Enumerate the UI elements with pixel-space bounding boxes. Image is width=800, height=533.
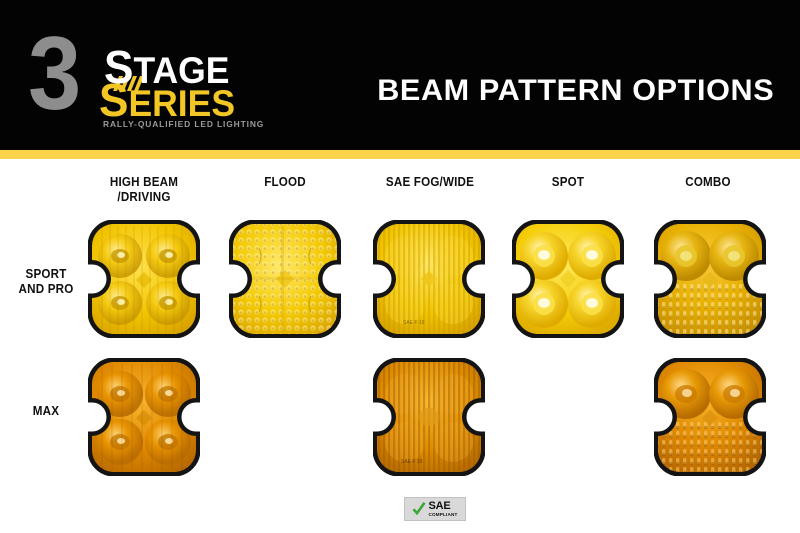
- lens-cell-sport-and-pro-sae-fog-wide[interactable]: SAE F 19: [373, 220, 485, 338]
- column-header-line1: FLOOD: [233, 175, 337, 190]
- row-label-line2: AND PRO: [5, 282, 87, 297]
- lens-marking-sae-f-19: SAE F 19: [401, 459, 423, 465]
- page-header: 3 STAGE SERIES RALLY-QUALIFIED LED LIGHT…: [0, 0, 800, 150]
- lens-cell-max-flood-empty: [229, 358, 341, 476]
- stage-series-logo: 3 STAGE SERIES RALLY-QUALIFIED LED LIGHT…: [28, 32, 268, 124]
- page-title: BEAM PATTERN OPTIONS: [377, 74, 774, 108]
- column-header-spot: SPOT: [516, 175, 620, 190]
- logo-tagline: RALLY-QUALIFIED LED LIGHTING: [103, 119, 264, 129]
- row-label-line1: MAX: [5, 404, 87, 419]
- badge-primary-text: SAE: [428, 501, 450, 512]
- column-header-line1: SPOT: [516, 175, 620, 190]
- column-header-line1: COMBO: [656, 175, 760, 190]
- sae-compliant-badge: SAE COMPLIANT: [404, 497, 466, 521]
- lens-cell-sport-and-pro-flood[interactable]: [229, 220, 341, 338]
- column-header-high-beam-driving: HIGH BEAM /DRIVING: [92, 175, 196, 205]
- badge-secondary-text: COMPLIANT: [428, 513, 457, 518]
- check-icon: [412, 501, 426, 517]
- lens-high-beam-driving-sport: [88, 220, 200, 338]
- column-header-line2: /DRIVING: [92, 190, 196, 205]
- header-accent-divider: [0, 150, 800, 159]
- lens-cell-sport-and-pro-high-beam-driving[interactable]: [88, 220, 200, 338]
- lens-combo-sport: [654, 220, 766, 338]
- lens-cell-sport-and-pro-spot[interactable]: [512, 220, 624, 338]
- column-header-flood: FLOOD: [233, 175, 337, 190]
- lens-high-beam-driving-max: [88, 358, 200, 476]
- row-label-sport-and-pro: SPORT AND PRO: [5, 267, 87, 297]
- lens-marking-sae-f-19: SAE F 19: [403, 320, 425, 326]
- row-label-max: MAX: [5, 404, 87, 419]
- row-label-line1: SPORT: [5, 267, 87, 282]
- lens-combo-max: [654, 358, 766, 476]
- lens-sae-fog-wide-sport: SAE F 19: [373, 220, 485, 338]
- lens-cell-max-combo[interactable]: [654, 358, 766, 476]
- lens-sae-fog-wide-max: SAE F 19: [373, 358, 485, 476]
- logo-numeral: 3: [28, 28, 76, 120]
- beam-pattern-options-page: 3 STAGE SERIES RALLY-QUALIFIED LED LIGHT…: [0, 0, 800, 533]
- logo-word-series: SERIES: [99, 77, 235, 123]
- lens-cell-max-high-beam-driving[interactable]: [88, 358, 200, 476]
- lens-cell-sport-and-pro-combo[interactable]: [654, 220, 766, 338]
- column-header-sae-fog-wide: SAE FOG/WIDE: [374, 175, 486, 190]
- lens-cell-max-sae-fog-wide[interactable]: SAE F 19: [373, 358, 485, 476]
- column-header-combo: COMBO: [656, 175, 760, 190]
- lens-spot-sport: [512, 220, 624, 338]
- column-header-line1: HIGH BEAM: [92, 175, 196, 190]
- beam-pattern-grid: HIGH BEAM /DRIVING FLOOD SAE FOG/WIDE SP…: [0, 159, 800, 533]
- lens-flood-sport: [229, 220, 341, 338]
- column-header-line1: SAE FOG/WIDE: [374, 175, 486, 190]
- lens-cell-max-spot-empty: [512, 358, 624, 476]
